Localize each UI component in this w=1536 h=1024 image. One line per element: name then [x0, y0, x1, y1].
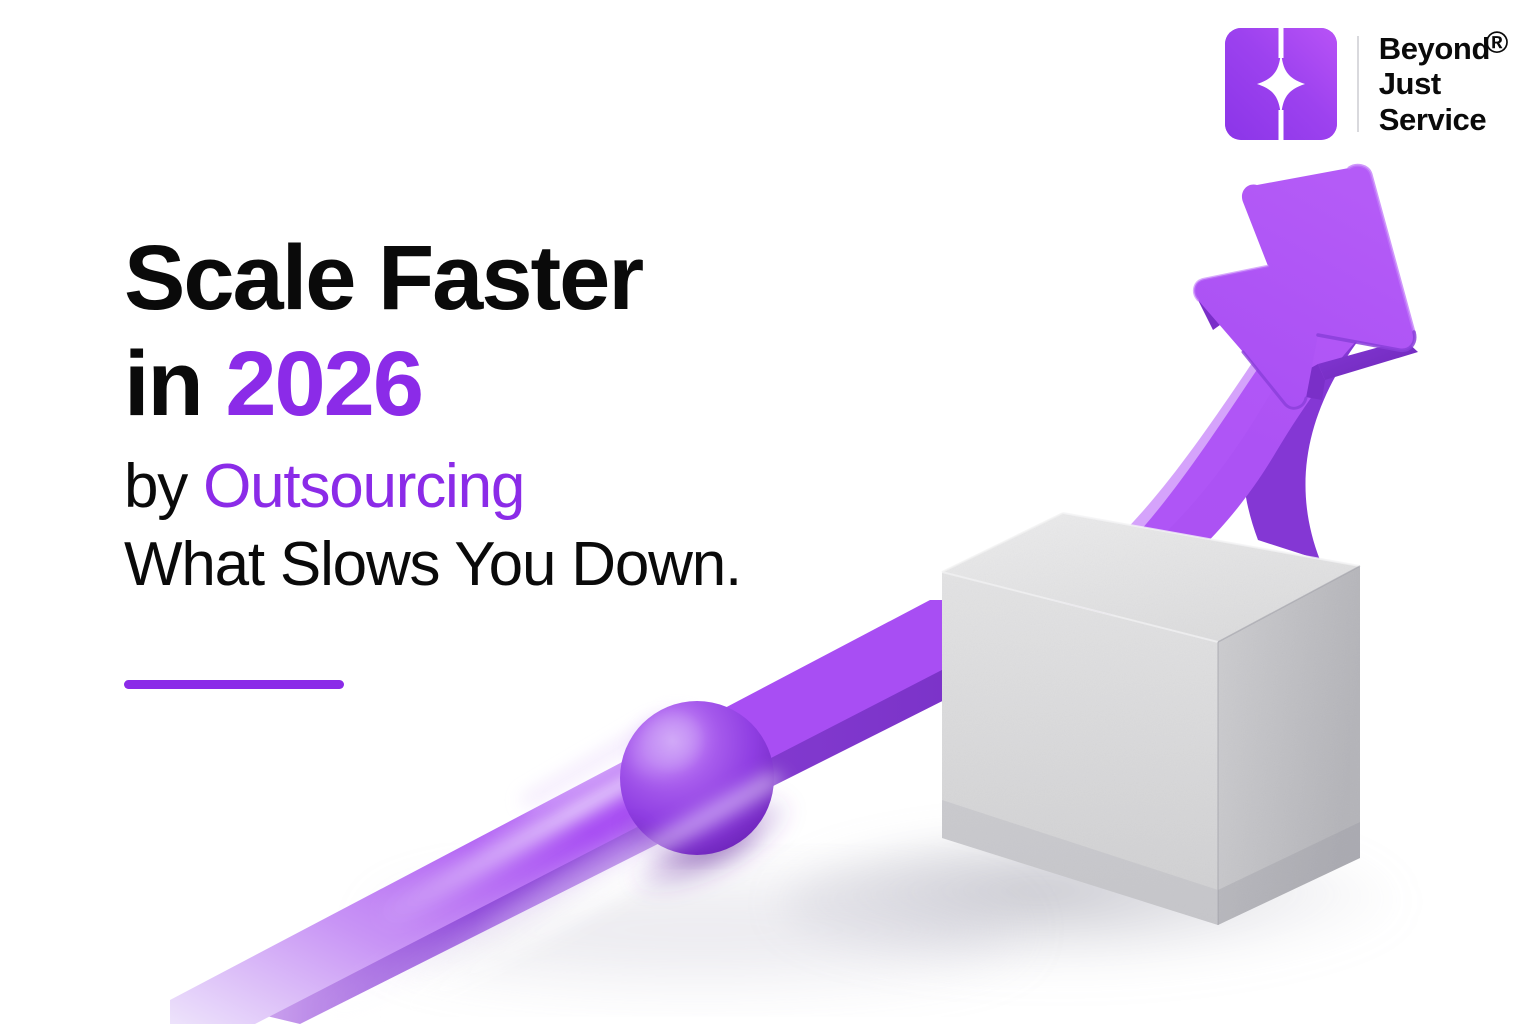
ramp-ground-shadow [380, 882, 1020, 978]
bjs-logo-mark [1225, 28, 1337, 140]
brand-name-line-2: Just [1379, 66, 1490, 102]
headline-block: Scale Faster in 2026 by Outsourcing What… [124, 232, 741, 596]
headline-line-4: What Slows You Down. [124, 534, 741, 596]
registered-trademark-icon: ® [1486, 25, 1508, 61]
brand-name-line-3: Service [1379, 102, 1490, 138]
poster-canvas: Scale Faster in 2026 by Outsourcing What… [0, 0, 1536, 1024]
headline-line-2: in 2026 [124, 338, 741, 430]
brand-name: Beyond Just Service ® [1379, 31, 1490, 138]
purple-sphere [620, 700, 774, 858]
brand-name-line-1: Beyond [1379, 31, 1490, 67]
ground-shadow [780, 833, 1400, 977]
headline-line-2-accent: 2026 [225, 333, 422, 435]
purple-ramp [170, 600, 1000, 1024]
headline-line-3: by Outsourcing [124, 456, 741, 518]
headline-line-2-prefix: in [124, 333, 225, 435]
speed-trails [300, 718, 758, 1024]
logo-divider [1357, 36, 1359, 132]
headline-line-3-prefix: by [124, 452, 203, 521]
headline-line-1: Scale Faster [124, 232, 741, 324]
front-trail-streak [360, 772, 786, 1014]
accent-rule [124, 680, 344, 689]
brand-logo[interactable]: Beyond Just Service ® [1225, 28, 1490, 140]
sphere-shadow [614, 769, 811, 917]
headline-line-3-accent: Outsourcing [203, 452, 524, 521]
arrow-head [1194, 165, 1418, 408]
ramp-rising-section [1040, 252, 1400, 622]
concrete-cube [942, 513, 1360, 925]
